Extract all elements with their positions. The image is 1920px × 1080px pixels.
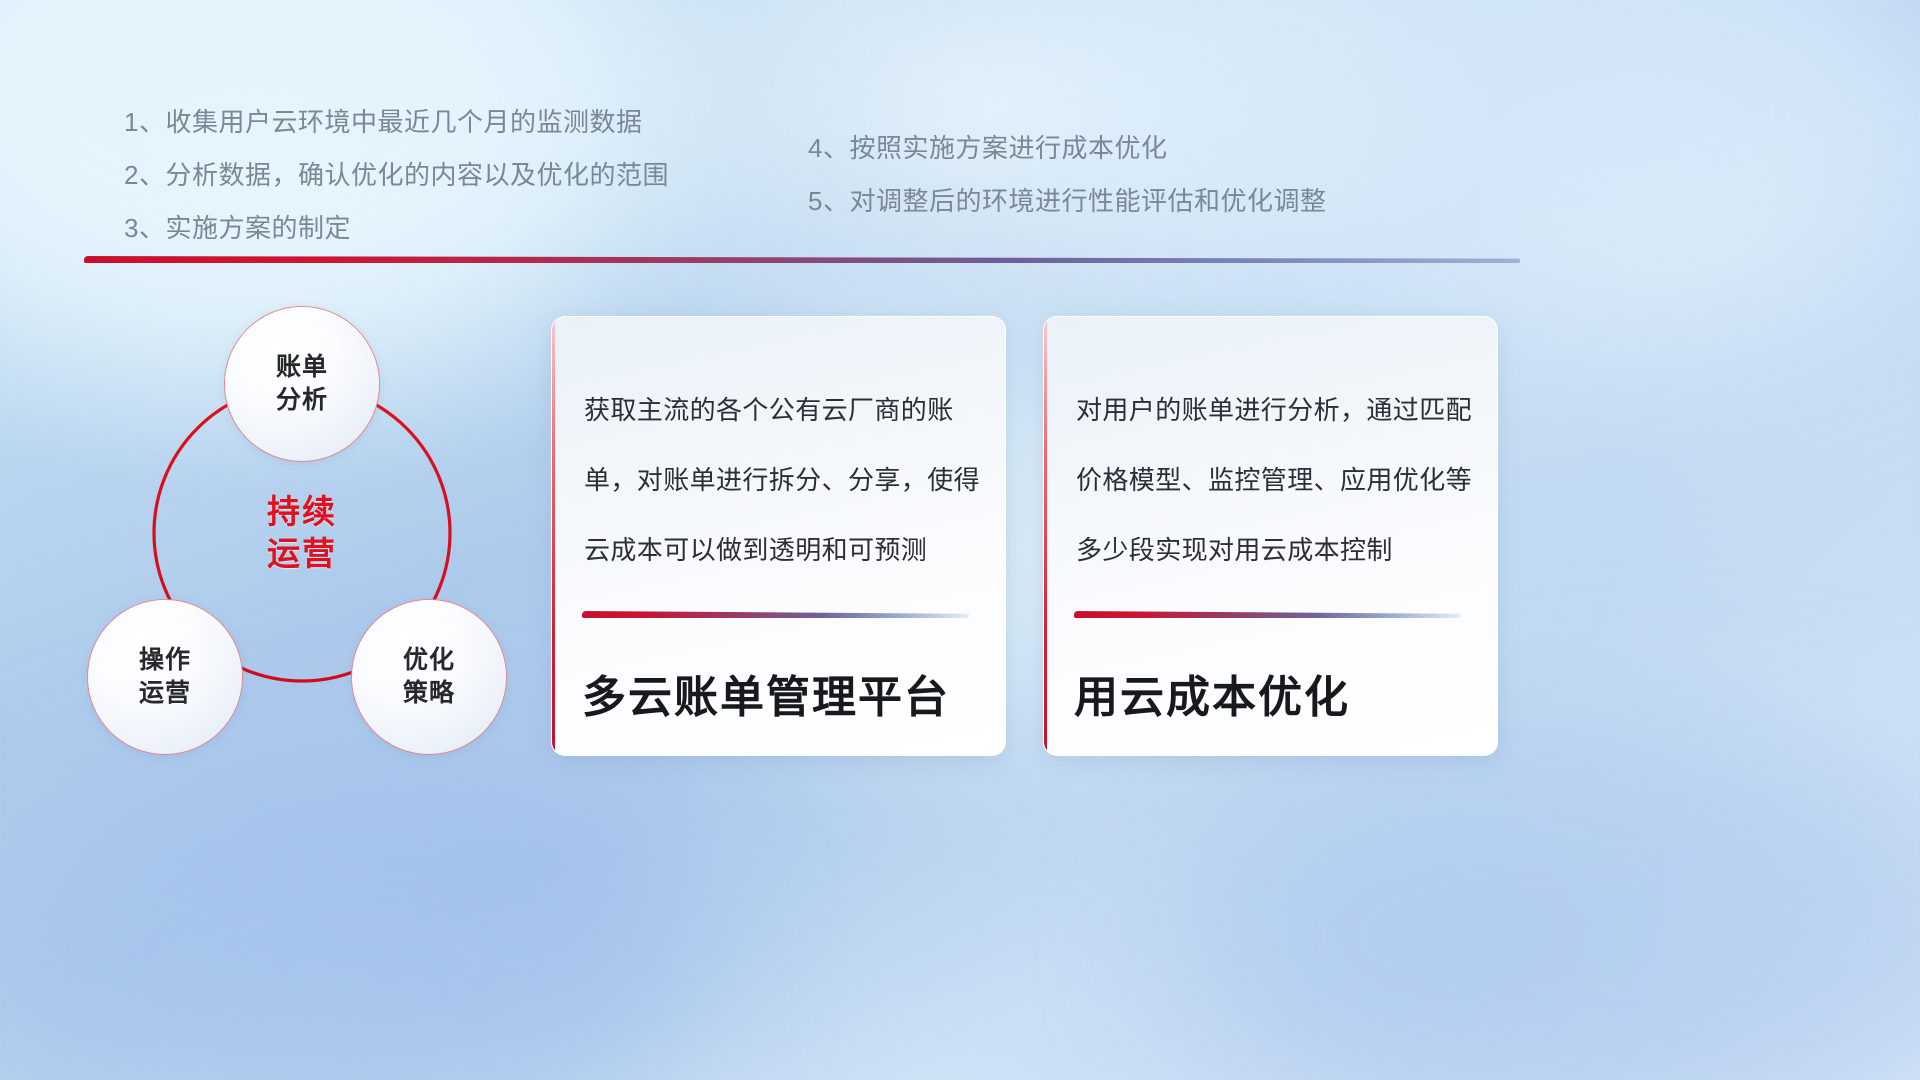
- steps-list-right: 4、按照实施方案进行成本优化 5、对调整后的环境进行性能评估和优化调整: [808, 122, 1326, 228]
- step-item: 1、收集用户云环境中最近几个月的监测数据: [124, 96, 669, 149]
- card-body-text: 获取主流的各个公有云厂商的账单，对账单进行拆分、分享，使得云成本可以做到透明和可…: [584, 375, 981, 585]
- step-item: 4、按照实施方案进行成本优化: [808, 122, 1326, 175]
- bubble-label-line2: 策略: [403, 679, 455, 707]
- step-item: 5、对调整后的环境进行性能评估和优化调整: [808, 175, 1326, 228]
- diagram-bubble-bill-analysis[interactable]: 账单 分析: [225, 307, 379, 461]
- diagram-bubble-operations[interactable]: 操作 运营: [88, 600, 242, 754]
- step-item: 2、分析数据，确认优化的内容以及优化的范围: [124, 149, 669, 202]
- bubble-label: 优化 策略: [403, 644, 455, 710]
- diagram-bubble-optimization-strategy[interactable]: 优化 策略: [352, 600, 506, 754]
- bubble-label-line1: 账单: [276, 353, 328, 381]
- step-item: 3、实施方案的制定: [124, 202, 669, 255]
- card-divider: [582, 611, 969, 618]
- continuous-operation-diagram: 账单 分析 操作 运营 优化 策略 持续 运营: [70, 285, 540, 775]
- section-divider: [84, 256, 1520, 263]
- background-glow-bottom-left: [0, 760, 700, 1080]
- bubble-label: 账单 分析: [276, 351, 328, 417]
- card-multicloud-billing[interactable]: 获取主流的各个公有云厂商的账单，对账单进行拆分、分享，使得云成本可以做到透明和可…: [551, 316, 1006, 756]
- card-body-text: 对用户的账单进行分析，通过匹配价格模型、监控管理、应用优化等多少段实现对用云成本…: [1076, 375, 1473, 585]
- bubble-label: 操作 运营: [139, 644, 191, 710]
- bubble-label-line2: 分析: [276, 386, 328, 414]
- center-label-line2: 运营: [267, 535, 337, 572]
- center-label-line1: 持续: [267, 493, 337, 530]
- bubble-label-line1: 优化: [403, 646, 455, 674]
- background-glow-bottom-right: [1180, 720, 1920, 1080]
- card-title: 用云成本优化: [1074, 661, 1350, 725]
- card-cloud-cost-optimization[interactable]: 对用户的账单进行分析，通过匹配价格模型、监控管理、应用优化等多少段实现对用云成本…: [1043, 316, 1498, 756]
- diagram-center-label: 持续 运营: [230, 478, 374, 588]
- bubble-label-line2: 运营: [139, 679, 191, 707]
- card-title: 多云账单管理平台: [582, 661, 950, 725]
- steps-list-left: 1、收集用户云环境中最近几个月的监测数据 2、分析数据，确认优化的内容以及优化的…: [124, 96, 669, 255]
- bubble-label-line1: 操作: [139, 646, 191, 674]
- card-divider: [1074, 611, 1461, 618]
